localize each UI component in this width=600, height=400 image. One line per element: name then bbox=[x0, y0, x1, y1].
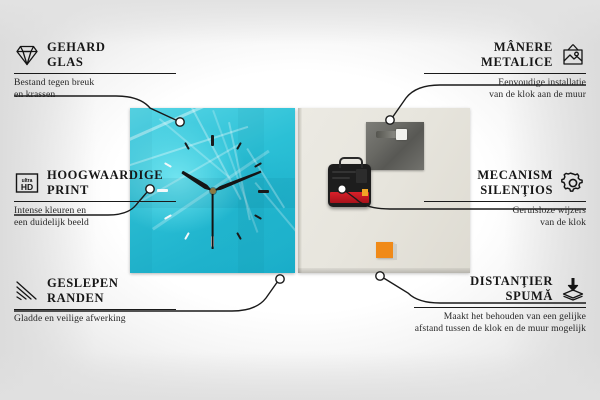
callout-title-line1: MÂNERE bbox=[494, 40, 553, 54]
picture-frame-icon bbox=[560, 42, 586, 68]
callout-title-line1: GEHARD bbox=[47, 40, 105, 54]
callout-title-line2: SPUMĂ bbox=[506, 289, 553, 303]
callout-title-line2: METALICE bbox=[481, 55, 553, 69]
battery bbox=[330, 192, 369, 203]
callout-desc-line1: Eenvoudige installatie bbox=[498, 77, 586, 88]
clock-second-hand bbox=[212, 191, 214, 249]
clock-center-hub bbox=[210, 188, 216, 194]
callout-rule bbox=[414, 307, 586, 308]
gear-icon bbox=[560, 170, 586, 196]
callout-manere-metalice: MÂNERE METALICE Eenvoudige installatie v… bbox=[424, 40, 586, 102]
callout-rule bbox=[424, 73, 586, 74]
callout-title-line2: RANDEN bbox=[47, 291, 104, 305]
arrow-onto-pad-icon bbox=[560, 276, 586, 302]
callout-rule bbox=[14, 73, 176, 74]
callout-rule bbox=[424, 201, 586, 202]
callout-title-line1: DISTANŢIER bbox=[470, 274, 553, 288]
callout-desc-line1: Maakt het behouden van een gelijke bbox=[444, 311, 586, 322]
callout-rule bbox=[14, 201, 176, 202]
callout-desc-line2: van de klok bbox=[540, 217, 586, 228]
callout-mecanism-silentios: MECANISM SILENŢIOS Geruisloze wijzers va… bbox=[424, 168, 586, 230]
metal-hanger-plate bbox=[366, 122, 424, 170]
callout-title-line2: GLAS bbox=[47, 55, 83, 69]
callout-desc-line2: en krassen bbox=[14, 89, 55, 100]
callout-desc-line2: afstand tussen de klok en de muur mogeli… bbox=[415, 323, 586, 334]
callout-distantier-spuma: DISTANŢIER SPUMĂ Maakt het behouden van … bbox=[414, 274, 586, 336]
svg-text:HD: HD bbox=[21, 182, 33, 192]
callout-desc-line1: Gladde en veilige afwerking bbox=[14, 313, 126, 324]
callout-desc-line1: Intense kleuren en bbox=[14, 205, 86, 216]
clock-mechanism-box bbox=[328, 164, 371, 207]
foam-spacer bbox=[376, 242, 393, 258]
callout-desc-line1: Bestand tegen breuk bbox=[14, 77, 94, 88]
callout-title-line1: MECANISM bbox=[477, 168, 553, 182]
callout-rule bbox=[14, 309, 176, 310]
diamond-icon bbox=[14, 42, 40, 68]
bevel-lines-icon bbox=[14, 278, 40, 304]
callout-desc-line2: een duidelijk beeld bbox=[14, 217, 89, 228]
callout-desc-line1: Geruisloze wijzers bbox=[513, 205, 586, 216]
callout-title-line2: SILENŢIOS bbox=[480, 183, 553, 197]
callout-gehard-glas: GEHARD GLAS Bestand tegen breuk en krass… bbox=[14, 40, 176, 102]
product-photo bbox=[130, 108, 470, 273]
infographic-canvas: GEHARD GLAS Bestand tegen breuk en krass… bbox=[0, 0, 600, 400]
callout-geslepen-randen: GESLEPEN RANDEN Gladde en veilige afwerk… bbox=[14, 276, 176, 325]
callout-title-line1: GESLEPEN bbox=[47, 276, 119, 290]
ultra-hd-icon: ultra HD bbox=[14, 170, 40, 196]
mechanism-hanger-loop bbox=[339, 157, 363, 168]
callout-hoogwaardige-print: ultra HD HOOGWAARDIGE PRINT Intense kleu… bbox=[14, 168, 176, 230]
callout-desc-line2: van de klok aan de muur bbox=[489, 89, 586, 100]
callout-title-line1: HOOGWAARDIGE bbox=[47, 168, 163, 182]
callout-title-line2: PRINT bbox=[47, 183, 89, 197]
foam-spacer-shadow bbox=[393, 244, 397, 260]
